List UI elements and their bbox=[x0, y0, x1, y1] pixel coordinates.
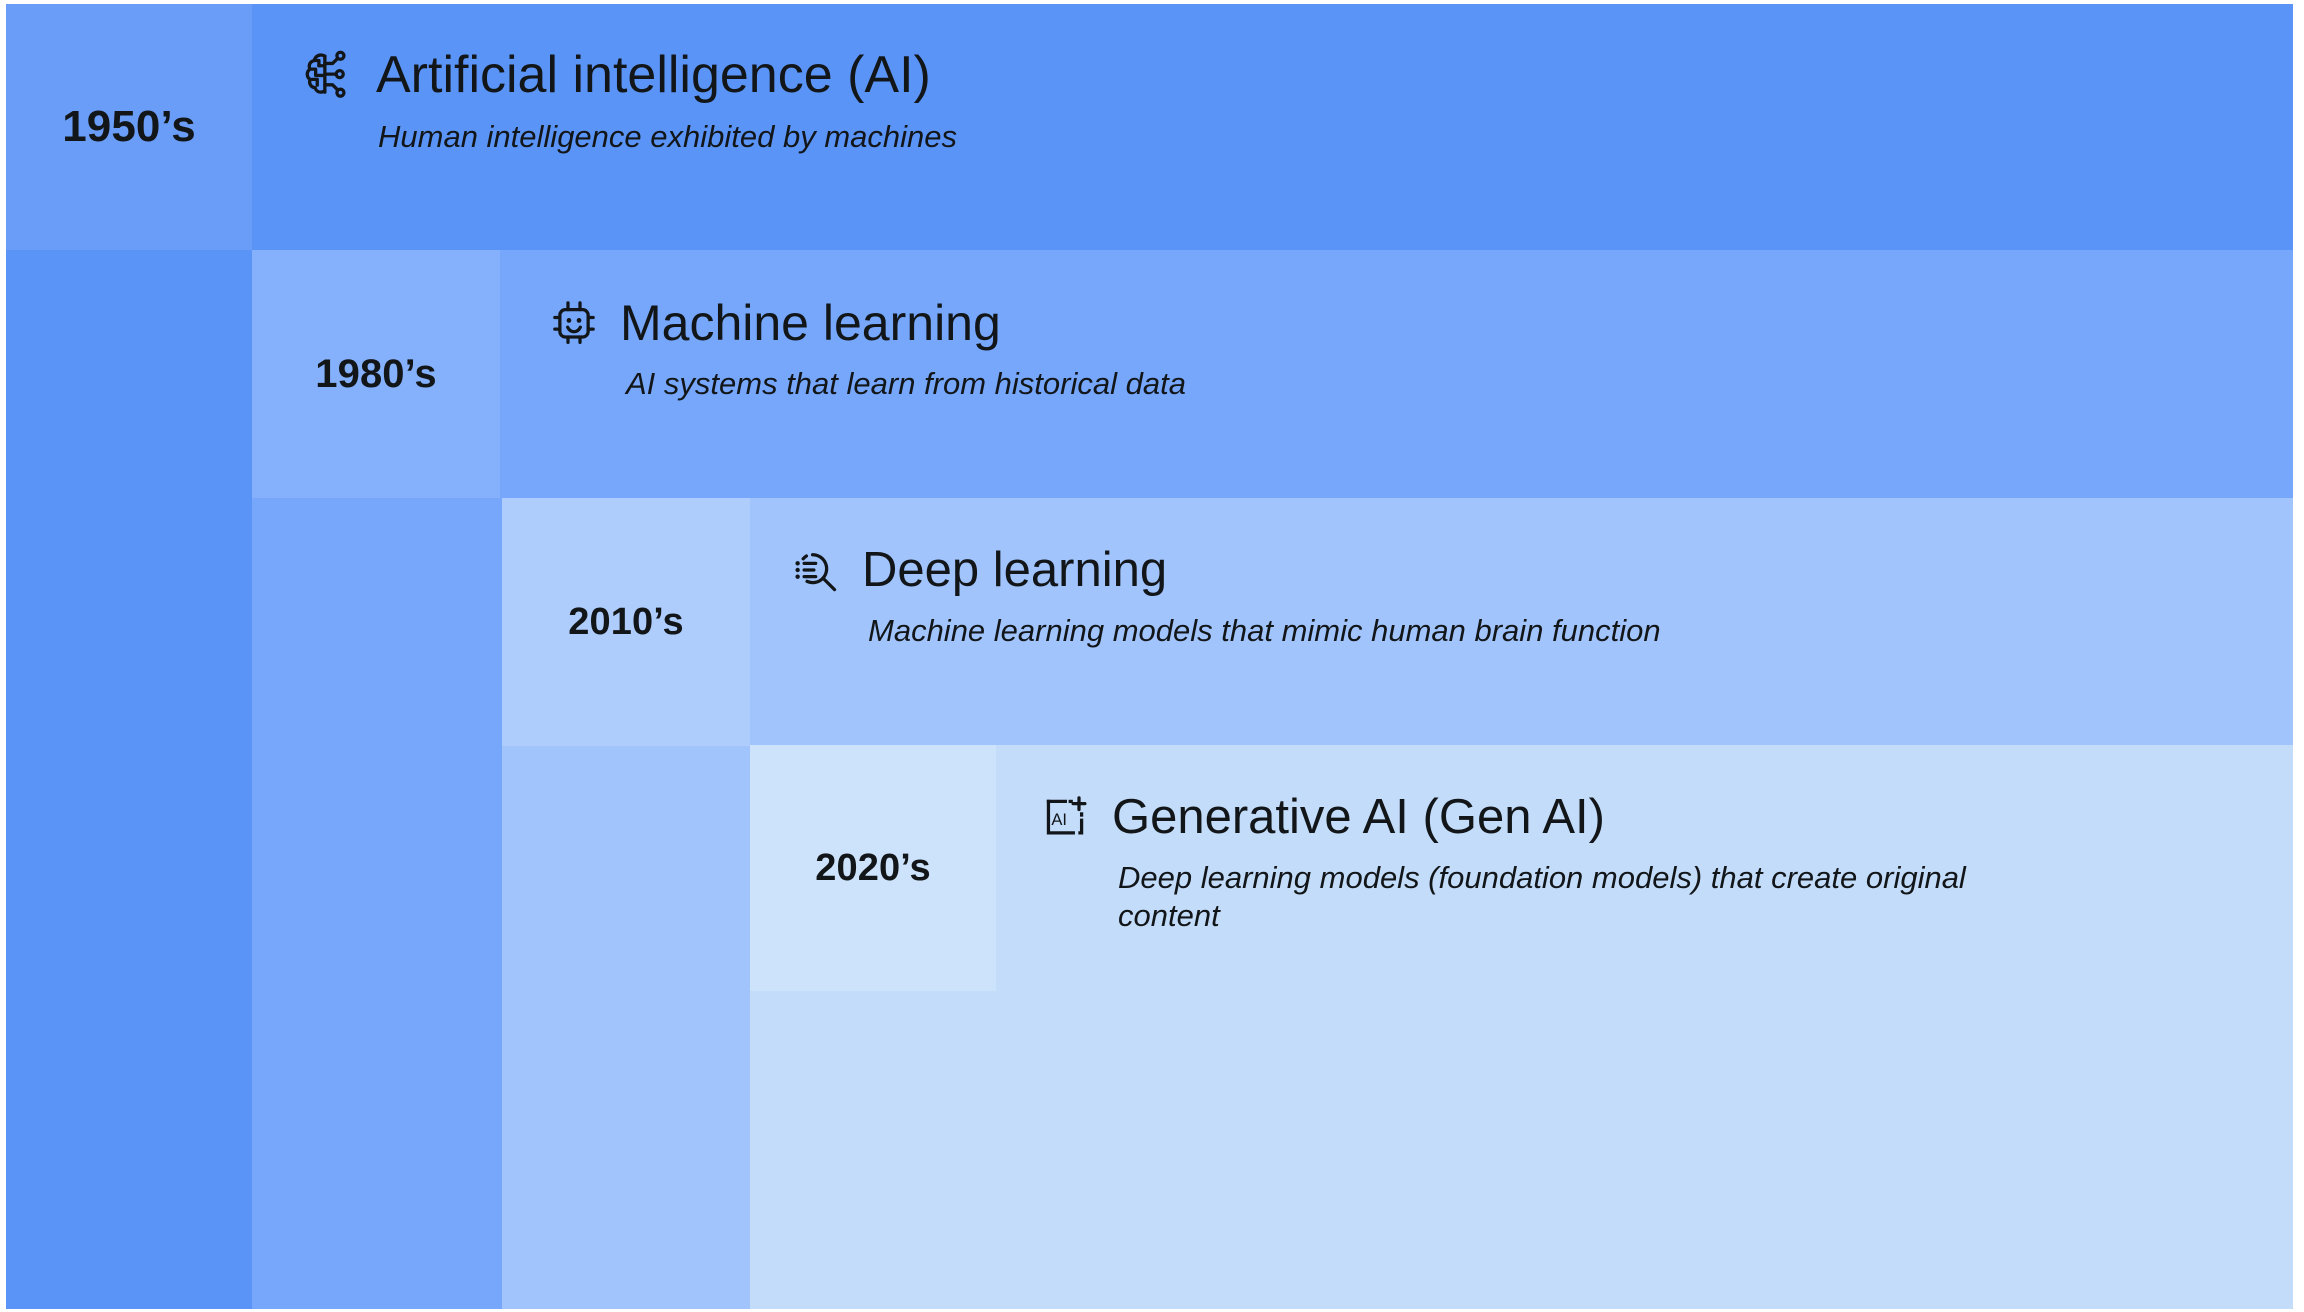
title-row-machine-learning: Machine learning bbox=[548, 295, 2258, 351]
entry-description-machine-learning: AI systems that learn from historical da… bbox=[626, 365, 2258, 403]
decade-label-1980s: 1980’s bbox=[252, 250, 500, 498]
ai-taxonomy-diagram: 1950’s 1980’s 2010’s 2020’s bbox=[0, 0, 2304, 1312]
magnifier-data-icon bbox=[790, 544, 842, 596]
ai-sparkle-frame-icon: AI bbox=[1040, 791, 1092, 843]
entry-title-artificial-intelligence: Artificial intelligence (AI) bbox=[376, 46, 931, 104]
decade-label-1950s: 1950’s bbox=[6, 4, 252, 250]
decade-label-2020s: 2020’s bbox=[750, 745, 996, 991]
title-row-deep-learning: Deep learning bbox=[790, 543, 2260, 598]
entry-artificial-intelligence: Artificial intelligence (AI) Human intel… bbox=[300, 46, 2260, 157]
svg-text:AI: AI bbox=[1051, 810, 1067, 829]
entry-deep-learning: Deep learning Machine learning models th… bbox=[790, 543, 2260, 650]
entry-generative-ai: AI Generative AI (Gen AI) Deep learning … bbox=[1040, 790, 2260, 936]
entry-description-artificial-intelligence: Human intelligence exhibited by machines bbox=[378, 118, 2260, 156]
title-row-generative-ai: AI Generative AI (Gen AI) bbox=[1040, 790, 2260, 845]
entry-title-deep-learning: Deep learning bbox=[862, 543, 1167, 598]
entry-description-generative-ai: Deep learning models (foundation models)… bbox=[1118, 859, 1968, 936]
robot-face-icon bbox=[548, 297, 600, 349]
title-row-artificial-intelligence: Artificial intelligence (AI) bbox=[300, 46, 2260, 104]
entry-description-deep-learning: Machine learning models that mimic human… bbox=[868, 612, 2260, 650]
entry-title-generative-ai: Generative AI (Gen AI) bbox=[1112, 790, 1605, 845]
brain-circuit-icon bbox=[300, 47, 356, 103]
entry-machine-learning: Machine learning AI systems that learn f… bbox=[548, 295, 2258, 403]
entry-title-machine-learning: Machine learning bbox=[620, 295, 1001, 351]
decade-label-2010s: 2010’s bbox=[502, 498, 750, 746]
